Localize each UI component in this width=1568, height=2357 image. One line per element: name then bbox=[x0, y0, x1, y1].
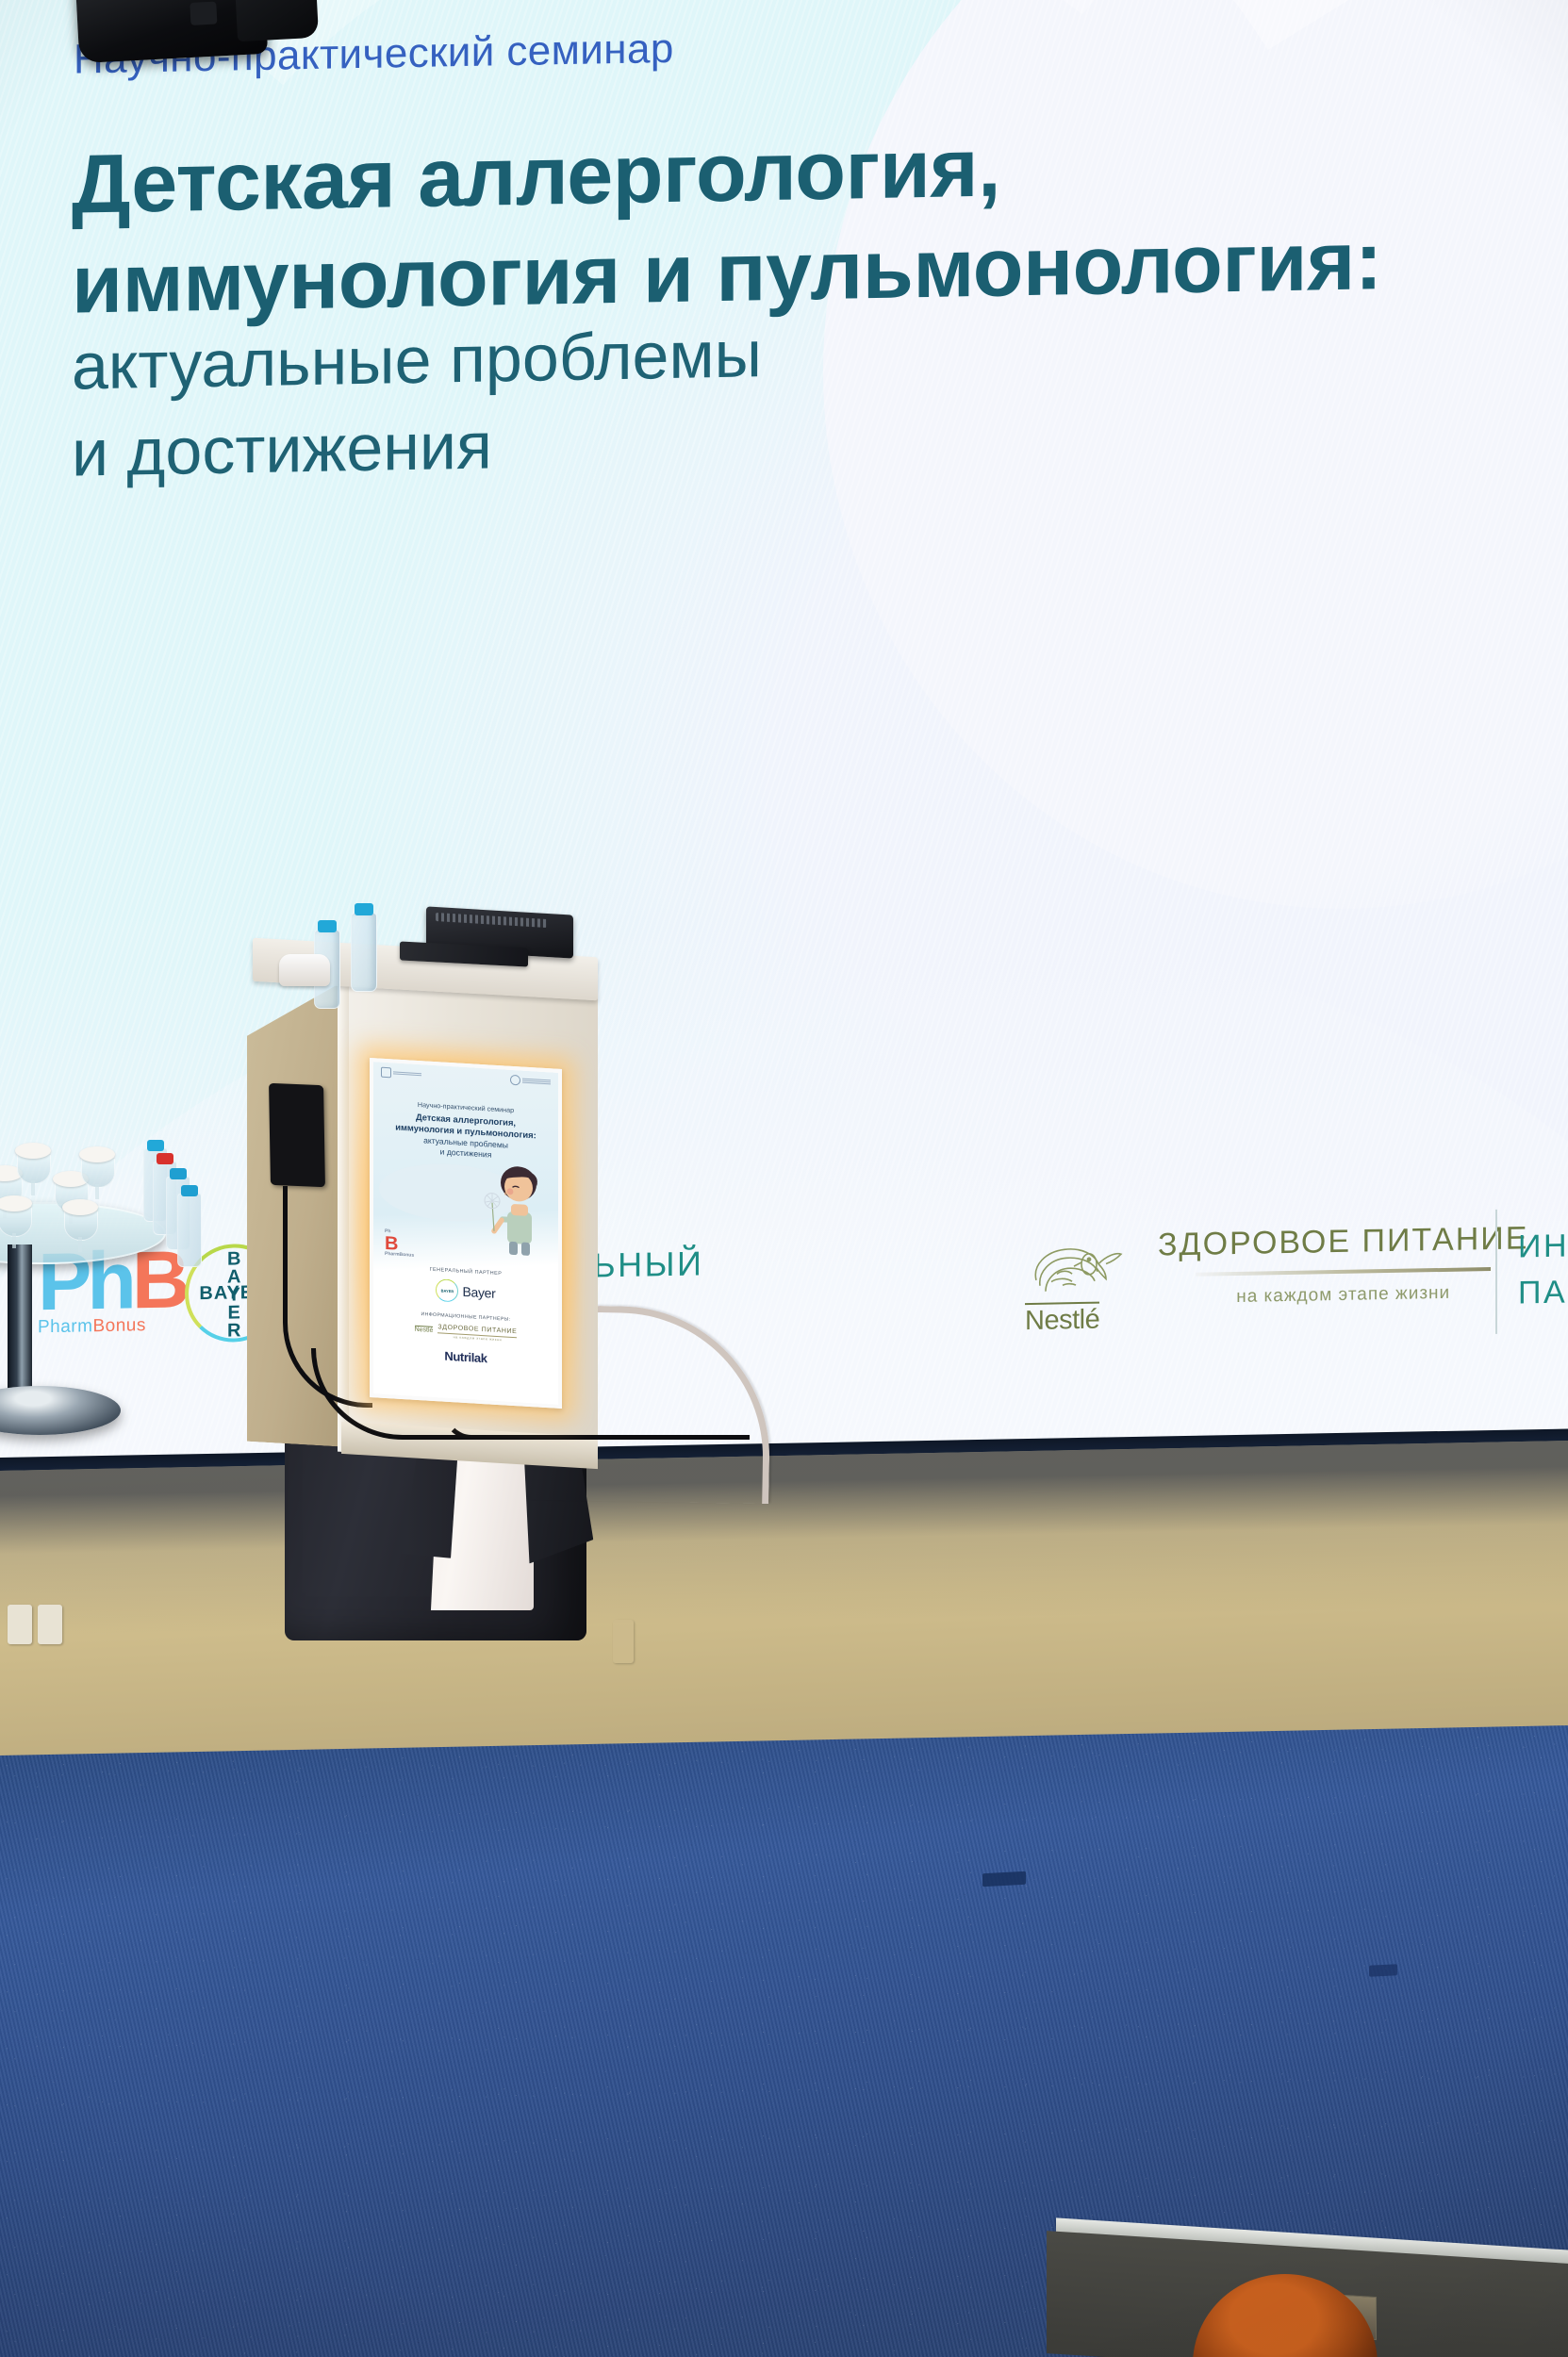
nestle-logo: Nestlé bbox=[1023, 1226, 1127, 1339]
info-partner-label-line-1: ИНФ bbox=[1518, 1223, 1568, 1271]
bottle-cap bbox=[157, 1153, 173, 1164]
poster-bayer-row: BAYER Bayer bbox=[373, 1275, 558, 1309]
table-post bbox=[8, 1244, 32, 1405]
podium-poster-frame: Научно-практический семинар Детская алле… bbox=[370, 1058, 562, 1409]
slide-title-line-1: Детская аллергология, bbox=[72, 120, 1000, 233]
organizer-name-right bbox=[522, 1079, 551, 1085]
slide-subtitle-line-1: актуальные проблемы bbox=[72, 316, 762, 404]
poster-boy-illustration-icon bbox=[477, 1162, 551, 1258]
covered-glass bbox=[15, 1141, 51, 1199]
poster-organizer-logos bbox=[381, 1067, 551, 1088]
poster-bayer-cross-icon: BAYER bbox=[436, 1278, 458, 1302]
cup-stack bbox=[279, 954, 330, 986]
poster-organizer-logo-left bbox=[381, 1067, 421, 1080]
bottle-cap bbox=[170, 1168, 187, 1179]
covered-glass bbox=[79, 1145, 115, 1203]
nestle-nest-icon bbox=[1023, 1226, 1127, 1314]
healthy-nutrition-title: ЗДОРОВОЕ ПИТАНИЕ bbox=[1158, 1220, 1528, 1263]
floor-vent bbox=[982, 1871, 1026, 1887]
glass-stem bbox=[12, 1233, 16, 1248]
floor-vent bbox=[1369, 1964, 1397, 1977]
projection-screen: Научно-практический семинар Детская алле… bbox=[0, 0, 1568, 1497]
water-bottle bbox=[351, 913, 377, 992]
organizer-emblem-icon bbox=[381, 1067, 391, 1079]
poster-phb-wordmark: PharmBonus bbox=[385, 1252, 414, 1259]
sponsor-band: PhB PharmBonus BAYER BAYER Bayer ГЕНЕРАЛ… bbox=[0, 1197, 1568, 1395]
table-water-bottle bbox=[177, 1194, 202, 1267]
nestle-wordmark: Nestlé bbox=[1025, 1302, 1099, 1337]
healthy-nutrition-rule bbox=[1196, 1267, 1491, 1277]
glass-lid bbox=[15, 1143, 51, 1159]
bottle-cap bbox=[355, 903, 373, 915]
podium-equipment-box bbox=[269, 1083, 325, 1188]
poster-nutrilak-wordmark: Nutrilak bbox=[373, 1344, 558, 1370]
poster-healthy-nutrition-logo: ЗДОРОВОЕ ПИТАНИЕ на каждом этапе жизни bbox=[437, 1324, 517, 1342]
console-keys bbox=[436, 913, 547, 928]
wall-outlet bbox=[613, 1620, 634, 1663]
bottle-cap bbox=[181, 1185, 198, 1196]
power-cable bbox=[443, 1401, 750, 1440]
pharmbonus-wordmark-pharm: Pharm bbox=[38, 1316, 92, 1337]
conference-photo: Научно-практический семинар Детская алле… bbox=[0, 0, 1568, 2357]
ceiling-mount-bracket bbox=[234, 0, 319, 41]
covered-glass bbox=[0, 1194, 32, 1252]
slide-title-line-2: иммунология и пульмонология: bbox=[72, 212, 1382, 332]
healthy-nutrition-tagline: на каждом этапе жизни bbox=[1158, 1281, 1528, 1309]
wall-outlet bbox=[8, 1605, 32, 1644]
healthy-nutrition-logo: ЗДОРОВОЕ ПИТАНИЕ на каждом этапе жизни bbox=[1158, 1220, 1528, 1309]
organizer-name-left bbox=[393, 1071, 421, 1076]
glass-lid bbox=[79, 1146, 115, 1162]
wall-outlet bbox=[38, 1605, 62, 1644]
pharmbonus-wordmark: PharmBonus bbox=[38, 1315, 151, 1338]
podium-poster: Научно-практический семинар Детская алле… bbox=[373, 1062, 558, 1405]
info-partner-label: ИНФ ПАР bbox=[1518, 1223, 1568, 1317]
projector-lens-icon bbox=[190, 2, 217, 25]
bottle-cap bbox=[318, 920, 337, 932]
sponsor-band-divider bbox=[1495, 1210, 1497, 1334]
poster-nestle-wordmark: Nestlé bbox=[415, 1326, 434, 1335]
bayer-cross-vertical: BAYER bbox=[225, 1248, 242, 1338]
slide-subtitle-line-2: и достижения bbox=[72, 407, 492, 490]
poster-bayer-wordmark: Bayer bbox=[462, 1284, 495, 1301]
info-partner-label-line-2: ПАР bbox=[1518, 1269, 1568, 1317]
pharmbonus-wordmark-bonus: Bonus bbox=[92, 1315, 145, 1336]
poster-pharmbonus-logo: PhBPharmBonus bbox=[385, 1230, 414, 1259]
covered-glass bbox=[62, 1197, 98, 1256]
glass-stem bbox=[78, 1237, 82, 1252]
glass-lid bbox=[62, 1199, 98, 1215]
organizer-emblem-icon bbox=[510, 1075, 520, 1086]
bottle-cap bbox=[147, 1140, 164, 1151]
poster-organizer-logo-right bbox=[510, 1075, 551, 1088]
